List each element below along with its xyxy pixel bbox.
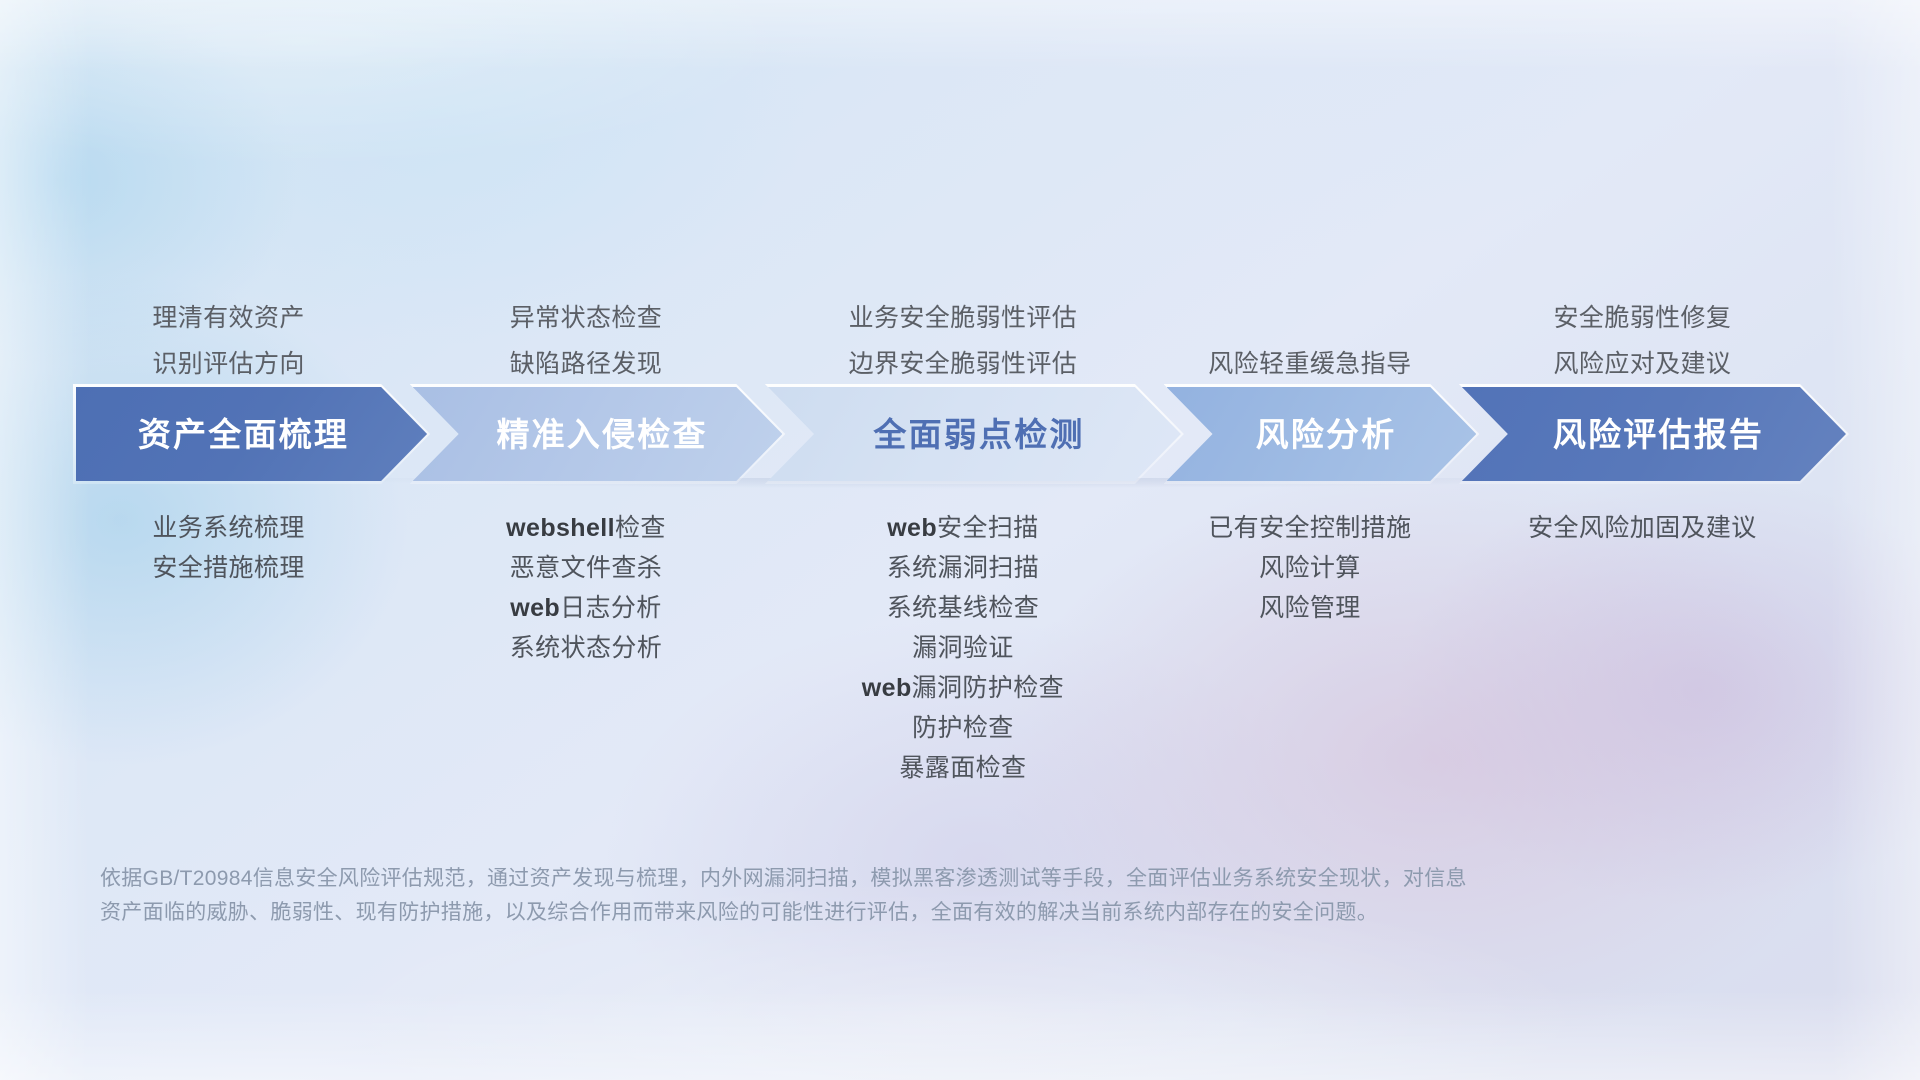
activity-item-prefix: web [510, 594, 560, 622]
process-stage-label: 资产全面梳理 [76, 418, 427, 451]
activity-item: web日志分析 [376, 588, 796, 628]
activity-item-text: 系统状态分析 [376, 628, 796, 668]
outcome-item: 异常状态检查 [376, 295, 796, 341]
process-stage-weakness-detection[interactable]: 全面弱点检测 [768, 387, 1181, 481]
process-stage-label: 精准入侵检查 [413, 418, 783, 451]
outcome-item: 缺陷路径发现 [376, 341, 796, 387]
outcome-item: 安全脆弱性修复 [1432, 295, 1852, 341]
process-stage-label: 全面弱点检测 [768, 418, 1181, 451]
activity-item-text: 安全风险加固及建议 [1432, 508, 1852, 548]
process-stage-label: 风险评估报告 [1462, 418, 1846, 451]
process-stage-intrusion-check[interactable]: 精准入侵检查 [413, 387, 783, 481]
footer-line-2: 资产面临的威胁、脆弱性、现有防护措施，以及综合作用而带来风险的可能性进行评估，全… [100, 896, 1580, 930]
activity-item-prefix: webshell [506, 514, 615, 542]
process-flow-band: 资产全面梳理精准入侵检查全面弱点检测风险分析风险评估报告 [76, 387, 1846, 481]
footer-description: 依据GB/T20984信息安全风险评估规范，通过资产发现与梳理，内外网漏洞扫描，… [100, 862, 1580, 930]
outcome-item: 风险应对及建议 [1432, 341, 1852, 387]
activity-item-text: 恶意文件查杀 [376, 548, 796, 588]
slide-canvas: 理清有效资产识别评估方向业务系统梳理安全措施梳理异常状态检查缺陷路径发现webs… [0, 0, 1920, 1080]
activity-item-prefix: web [862, 674, 912, 702]
stage-outcomes-intrusion-check: 异常状态检查缺陷路径发现 [376, 295, 796, 387]
activity-item-prefix: web [887, 514, 937, 542]
stage-activities-intrusion-check: webshell检查恶意文件查杀web日志分析系统状态分析 [376, 508, 796, 668]
activity-item-text: 漏洞防护检查 [912, 674, 1064, 702]
stage-outcomes-assessment-report: 安全脆弱性修复风险应对及建议 [1432, 295, 1852, 387]
activity-item: webshell检查 [376, 508, 796, 548]
activity-item-text: 日志分析 [560, 594, 662, 622]
process-stage-assessment-report[interactable]: 风险评估报告 [1462, 387, 1846, 481]
activity-item-text: 安全扫描 [937, 514, 1039, 542]
footer-line-1: 依据GB/T20984信息安全风险评估规范，通过资产发现与梳理，内外网漏洞扫描，… [100, 862, 1580, 896]
process-stage-asset-inventory[interactable]: 资产全面梳理 [76, 387, 427, 481]
activity-item-text: 检查 [615, 514, 666, 542]
process-stage-risk-analysis[interactable]: 风险分析 [1167, 387, 1477, 481]
stage-activities-assessment-report: 安全风险加固及建议 [1432, 508, 1852, 548]
process-stage-label: 风险分析 [1167, 418, 1477, 451]
